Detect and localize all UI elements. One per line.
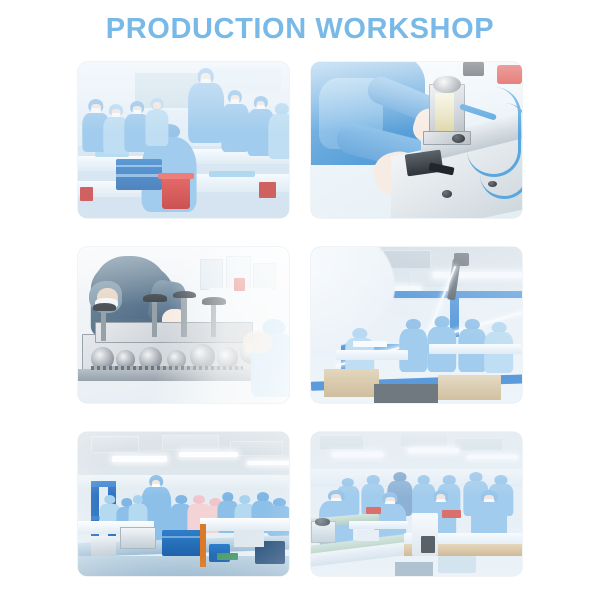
photo-4-scene xyxy=(311,247,522,403)
photo-tile-1[interactable] xyxy=(78,62,289,218)
photo-tile-3[interactable] xyxy=(78,247,289,403)
photo-1-scene xyxy=(78,62,289,218)
photo-5-scene xyxy=(78,432,289,576)
photo-6-scene xyxy=(311,432,522,576)
page-root: PRODUCTION WORKSHOP xyxy=(0,0,600,600)
photo-3-scene xyxy=(78,247,289,403)
photo-tile-4[interactable] xyxy=(311,247,522,403)
page-title: PRODUCTION WORKSHOP xyxy=(0,12,600,46)
photo-tile-5[interactable] xyxy=(78,432,289,576)
photo-gallery xyxy=(78,62,522,576)
photo-tile-2[interactable] xyxy=(311,62,522,218)
photo-tile-6[interactable] xyxy=(311,432,522,576)
photo-2-scene xyxy=(311,62,522,218)
